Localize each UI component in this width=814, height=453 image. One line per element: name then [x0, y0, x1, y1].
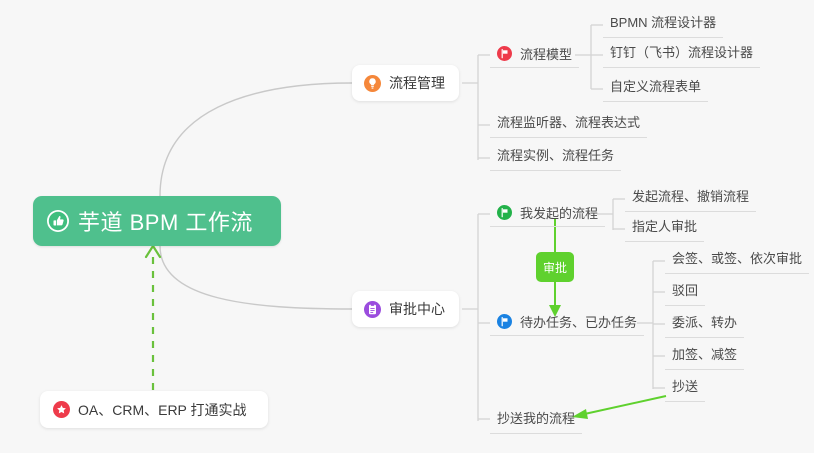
thumbs-up-icon — [47, 210, 69, 232]
leaf-label-countersign: 会签、或签、依次审批 — [672, 251, 802, 266]
leaf-node-custom-form[interactable]: 自定义流程表单 — [603, 76, 708, 102]
leaf-label-delegate-transfer: 委派、转办 — [672, 315, 737, 330]
approval-tag[interactable]: 审批 — [536, 252, 574, 282]
mindmap-canvas: 芋道 BPM 工作流 流程管理 流程模型 BPMN 流程设计器 钉钉（飞书 — [0, 0, 814, 453]
link-group-liuchengmoxing — [575, 25, 603, 89]
leaf-node-dingtalk-designer[interactable]: 钉钉（飞书）流程设计器 — [603, 42, 760, 68]
leaf-label-custom-form: 自定义流程表单 — [610, 79, 701, 94]
link-group-shenpizhongxin — [462, 214, 490, 421]
flag-icon — [497, 46, 512, 61]
leaf-node-add-remove-sign[interactable]: 加签、减签 — [665, 344, 744, 370]
leaf-node-cc[interactable]: 抄送 — [665, 376, 705, 402]
leaf-node-delegate-transfer[interactable]: 委派、转办 — [665, 312, 744, 338]
flag-icon — [497, 314, 512, 329]
root-node[interactable]: 芋道 BPM 工作流 — [33, 196, 281, 246]
subnode-label-daibanrenwu: 待办任务、已办任务 — [520, 312, 637, 331]
leaf-node-start-cancel-flow[interactable]: 发起流程、撤销流程 — [625, 186, 756, 212]
subnode-label-liuchengmoxing: 流程模型 — [520, 44, 572, 63]
callout-node-integration[interactable]: OA、CRM、ERP 打通实战 — [40, 391, 268, 428]
branch-label-shenpizhongxin: 审批中心 — [389, 299, 445, 319]
link-root-to-liuchengguanli — [160, 83, 352, 196]
link-root-to-shenpizhongxin — [160, 246, 352, 309]
leaf-label-dingtalk-designer: 钉钉（飞书）流程设计器 — [610, 45, 753, 60]
leaf-label-instance-task: 流程实例、流程任务 — [497, 148, 614, 163]
leaf-node-reject[interactable]: 驳回 — [665, 280, 705, 306]
leaf-label-add-remove-sign: 加签、减签 — [672, 347, 737, 362]
arrow-callout-to-root — [146, 246, 160, 390]
branch-node-shenpizhongxin[interactable]: 审批中心 — [352, 291, 459, 327]
flag-icon — [497, 205, 512, 220]
subnode-liuchengmoxing[interactable]: 流程模型 — [490, 44, 579, 68]
leaf-node-cc-my-flow[interactable]: 抄送我的流程 — [490, 408, 582, 434]
leaf-node-listener-expression[interactable]: 流程监听器、流程表达式 — [490, 112, 647, 138]
subnode-daibanrenwu[interactable]: 待办任务、已办任务 — [490, 312, 644, 336]
leaf-node-instance-task[interactable]: 流程实例、流程任务 — [490, 145, 621, 171]
clipboard-icon — [364, 301, 381, 318]
lightbulb-icon — [364, 75, 381, 92]
leaf-label-cc-my-flow: 抄送我的流程 — [497, 411, 575, 426]
subnode-wofaqidelc[interactable]: 我发起的流程 — [490, 203, 605, 227]
root-label: 芋道 BPM 工作流 — [78, 205, 253, 237]
subnode-label-wofaqidelc: 我发起的流程 — [520, 203, 598, 222]
leaf-label-start-cancel-flow: 发起流程、撤销流程 — [632, 189, 749, 204]
leaf-label-cc: 抄送 — [672, 379, 698, 394]
leaf-node-bpmn-designer[interactable]: BPMN 流程设计器 — [603, 12, 723, 38]
approval-tag-label: 审批 — [543, 259, 567, 276]
star-badge-icon — [53, 401, 70, 418]
arrow-chaosong — [572, 396, 666, 419]
leaf-node-countersign[interactable]: 会签、或签、依次审批 — [665, 248, 809, 274]
callout-label: OA、CRM、ERP 打通实战 — [78, 400, 247, 420]
leaf-label-reject: 驳回 — [672, 283, 698, 298]
branch-label-liuchengguanli: 流程管理 — [389, 73, 445, 93]
leaf-node-assignee-approval[interactable]: 指定人审批 — [625, 216, 704, 242]
link-group-liuchengguanli — [462, 55, 490, 160]
branch-node-liuchengguanli[interactable]: 流程管理 — [352, 65, 459, 101]
leaf-label-assignee-approval: 指定人审批 — [632, 219, 697, 234]
leaf-label-bpmn-designer: BPMN 流程设计器 — [610, 15, 716, 30]
leaf-label-listener-expression: 流程监听器、流程表达式 — [497, 115, 640, 130]
